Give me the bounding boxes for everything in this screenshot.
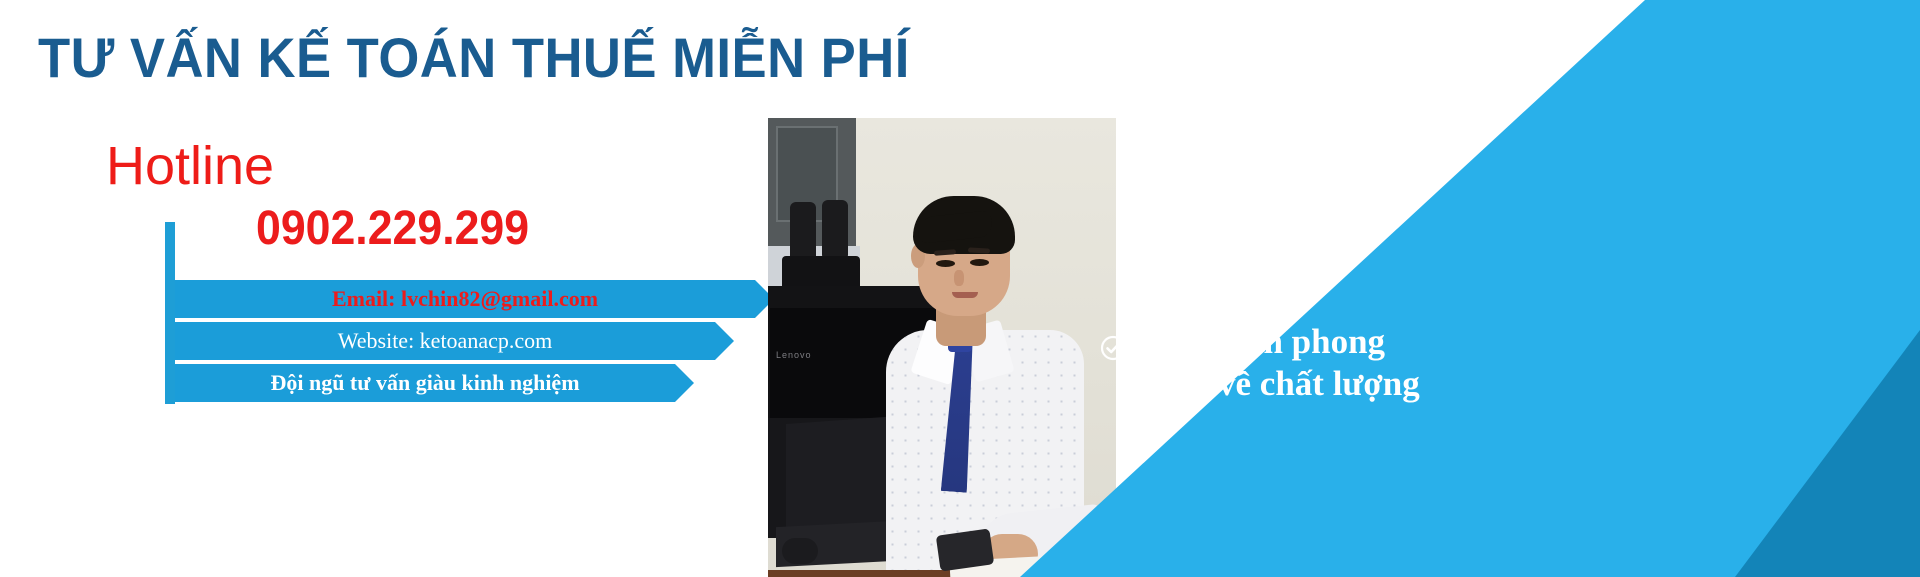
person-eye-left	[936, 260, 955, 267]
check-circle-icon	[1136, 287, 1162, 313]
email-bar[interactable]: Email: lvchin82@gmail.com	[175, 280, 755, 318]
benefit-item-1: Tận tâm	[1100, 240, 1800, 280]
bar-arrow-notch	[715, 322, 734, 360]
benefit-item-4: về chất lượng	[1100, 363, 1800, 406]
benefit-label: về chất lượng	[1218, 363, 1420, 406]
banner-root: TƯ VẤN KẾ TOÁN THUẾ MIỄN PHÍ Hotline 090…	[0, 0, 1920, 577]
benefit-label: Uy tín	[1174, 280, 1261, 320]
benefit-item-3: Luôn tiên phong	[1100, 321, 1800, 364]
consultant-photo: Lenovo	[768, 118, 1116, 577]
person-eyebrow-right	[968, 247, 990, 253]
bar-arrow-notch	[675, 364, 694, 402]
benefit-label: Tận tâm	[1210, 240, 1330, 280]
hotline-label: Hotline	[106, 139, 274, 193]
blue-bracket-bar	[165, 222, 175, 404]
computer-mouse-icon	[782, 538, 818, 564]
check-circle-icon	[1172, 247, 1198, 273]
benefit-label: Luôn tiên phong	[1138, 321, 1385, 364]
mobile-phone-icon	[936, 528, 994, 571]
website-bar[interactable]: Website: ketoanacp.com	[175, 322, 715, 360]
hotline-number[interactable]: 0902.229.299	[256, 205, 529, 253]
check-circle-icon	[1100, 329, 1126, 355]
benefits-list: Tận tâm Uy tín Luôn tiên phong về	[1100, 240, 1800, 406]
person-eye-right	[970, 259, 989, 266]
experience-text: Đội ngũ tư vấn giàu kinh nghiệm	[270, 370, 579, 396]
website-text: Website: ketoanacp.com	[338, 328, 552, 354]
speaker-right-icon	[822, 200, 848, 258]
benefit-item-2: Uy tín	[1100, 280, 1800, 320]
person-nose	[954, 270, 964, 286]
page-title: TƯ VẤN KẾ TOÁN THUẾ MIỄN PHÍ	[38, 30, 910, 86]
speaker-left-icon	[790, 202, 816, 260]
email-text: Email: lvchin82@gmail.com	[332, 286, 598, 312]
monitor-brand-label: Lenovo	[776, 350, 812, 360]
person-mouth	[952, 292, 978, 298]
experience-bar: Đội ngũ tư vấn giàu kinh nghiệm	[175, 364, 675, 402]
